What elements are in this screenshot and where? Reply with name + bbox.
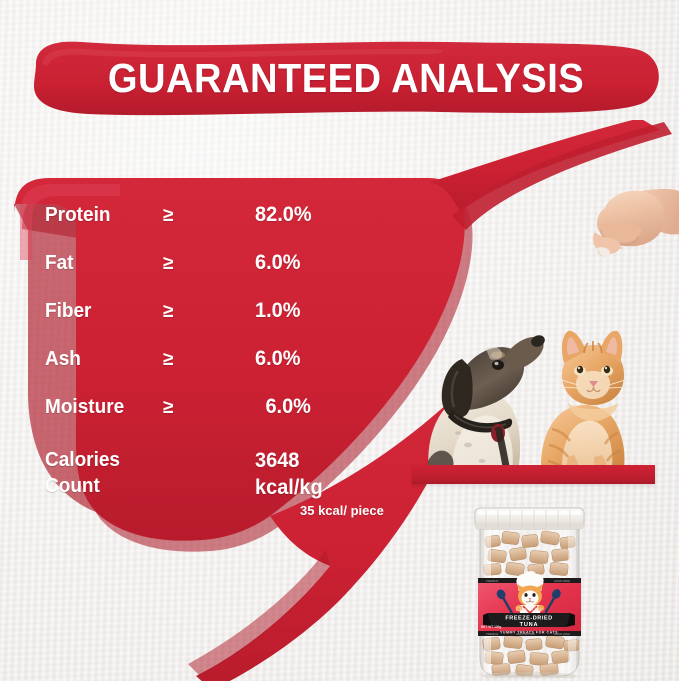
orange-tabby-cat-looking-up [541,331,628,480]
nutrient-label: Moisture [45,396,157,419]
product-jar: Chef Kitty FREEZE-DRIED TUNA YUMMY TREAT… [472,506,587,678]
page-title: GUARANTEED ANALYSIS [50,38,641,118]
nutrient-label: Protein [45,204,157,227]
nutrient-value: 6.0% [255,395,311,419]
svg-text:PREMIUM: PREMIUM [486,579,498,583]
svg-text:PREMIUM: PREMIUM [486,632,498,636]
header-banner: GUARANTEED ANALYSIS [28,38,664,118]
brand-script-text: Chef Kitty [516,606,543,613]
pets-photo-group [412,305,679,480]
svg-text:HIGH PROTEIN: HIGH PROTEIN [516,579,535,583]
nutrient-label: Fat [45,252,157,275]
jar-label: Chef Kitty FREEZE-DRIED TUNA YUMMY TREAT… [478,571,581,636]
nutrient-label: Fiber [45,300,157,323]
nutrient-value: 82.0% [255,203,312,227]
dog-looking-up [428,333,547,480]
nutrient-value: 1.0% [255,299,300,323]
svg-text:GRAIN FREE: GRAIN FREE [554,579,570,583]
hand-holding-treat [575,186,679,260]
calories-value-line2: kcal/kg [255,476,323,499]
calories-value: 3648 kcal/kg [255,448,323,502]
red-shelf-bar [412,465,655,484]
nutrient-operator: ≥ [163,397,255,419]
product-name-line1: FREEZE-DRIED [505,616,552,622]
nutrient-operator: ≥ [163,253,255,275]
product-infographic: GUARANTEED ANALYSIS Protein ≥ 82.0% Fat … [0,0,679,681]
table-row: Moisture ≥ 6.0% [45,395,345,443]
nutrient-value: 6.0% [255,251,300,275]
nutrient-operator: ≥ [163,301,255,323]
nutrient-label: Ash [45,348,157,371]
calories-label: Calories Count [45,448,245,499]
net-weight-text: NET WT 100g [481,625,501,629]
calories-label-line1: Calories [45,449,120,471]
table-row: Fat ≥ 6.0% [45,251,345,299]
table-row: Protein ≥ 82.0% [45,203,345,251]
calories-per-piece-note: 35 kcal/ piece [300,503,384,518]
svg-text:GRAIN FREE: GRAIN FREE [554,632,570,636]
calorie-count-block: Calories Count 3648 kcal/kg 35 kcal/ pie… [45,448,355,502]
nutrient-value: 6.0% [255,347,300,371]
calories-label-line2: Count [45,475,100,497]
product-name-line2: TUNA [520,622,539,628]
nutrition-table: Protein ≥ 82.0% Fat ≥ 6.0% Fiber ≥ 1.0% … [45,203,345,443]
table-row: Ash ≥ 6.0% [45,347,345,395]
nutrient-operator: ≥ [163,205,255,227]
jar-lid [475,508,584,529]
nutrient-operator: ≥ [163,349,255,371]
calories-value-line1: 3648 [255,449,299,472]
svg-text:HIGH PROTEIN: HIGH PROTEIN [516,632,535,636]
table-row: Fiber ≥ 1.0% [45,299,345,347]
